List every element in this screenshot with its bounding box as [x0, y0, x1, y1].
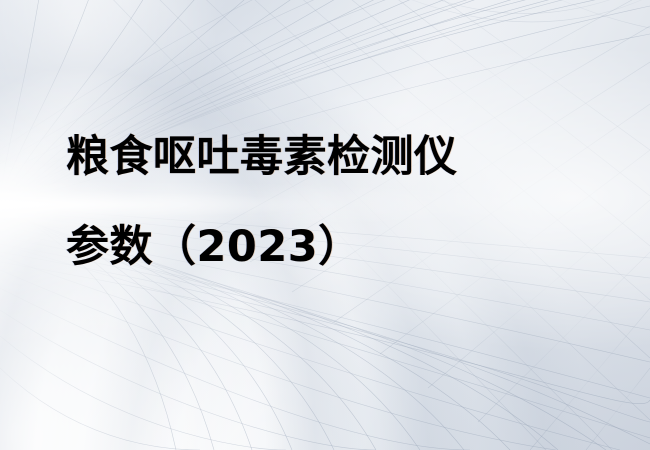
banner-title-line-1: 粮食呕吐毒素检测仪 [66, 112, 586, 202]
banner: 粮食呕吐毒素检测仪 参数（2023） [0, 0, 650, 450]
banner-title-block: 粮食呕吐毒素检测仪 参数（2023） [66, 112, 586, 292]
banner-title-line-2: 参数（2023） [66, 202, 586, 292]
